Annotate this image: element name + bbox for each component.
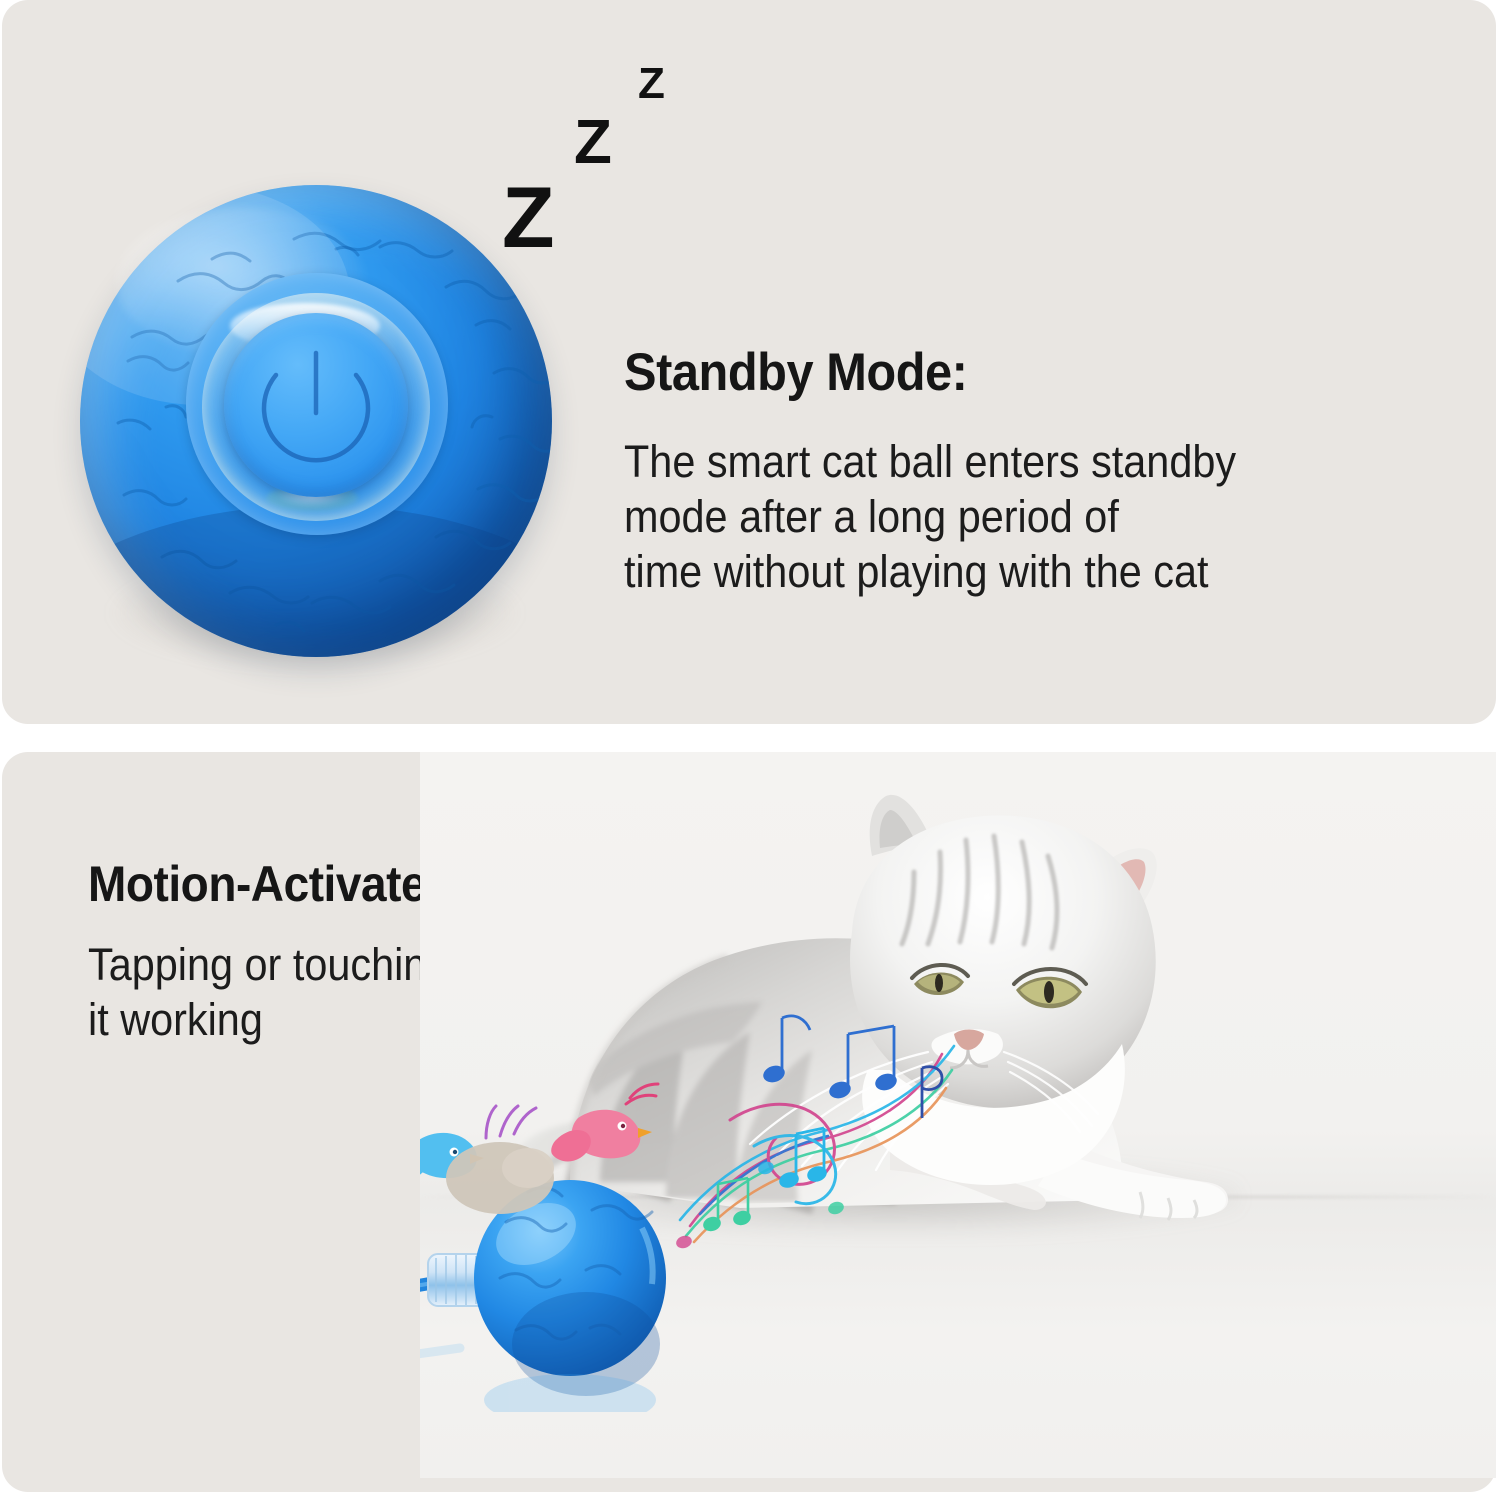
standby-body-line-3: time without playing with the cat	[624, 545, 1236, 600]
cat-playing-photo	[420, 752, 1496, 1478]
power-icon	[224, 313, 408, 497]
sleep-z-medium-icon: Z	[574, 112, 612, 174]
smart-cat-ball-image	[80, 185, 552, 657]
blue-ball-toy-with-wand	[420, 1082, 830, 1412]
standby-body-line-1: The smart cat ball enters standby	[624, 435, 1236, 490]
motion-heading: Motion-Activated:	[88, 858, 469, 911]
ball-power-button[interactable]	[224, 313, 408, 497]
pink-bird-toy	[551, 1084, 658, 1161]
standby-body-text: The smart cat ball enters standby mode a…	[624, 435, 1236, 600]
standby-heading: Standby Mode:	[624, 345, 967, 401]
product-feature-graphic: Z Z Z	[0, 0, 1500, 1478]
sleep-z-small-icon: Z	[638, 62, 665, 106]
standby-body-line-2: mode after a long period of	[624, 490, 1236, 545]
standby-mode-panel: Z Z Z	[2, 0, 1496, 724]
plush-mouse-toy	[446, 1106, 554, 1214]
